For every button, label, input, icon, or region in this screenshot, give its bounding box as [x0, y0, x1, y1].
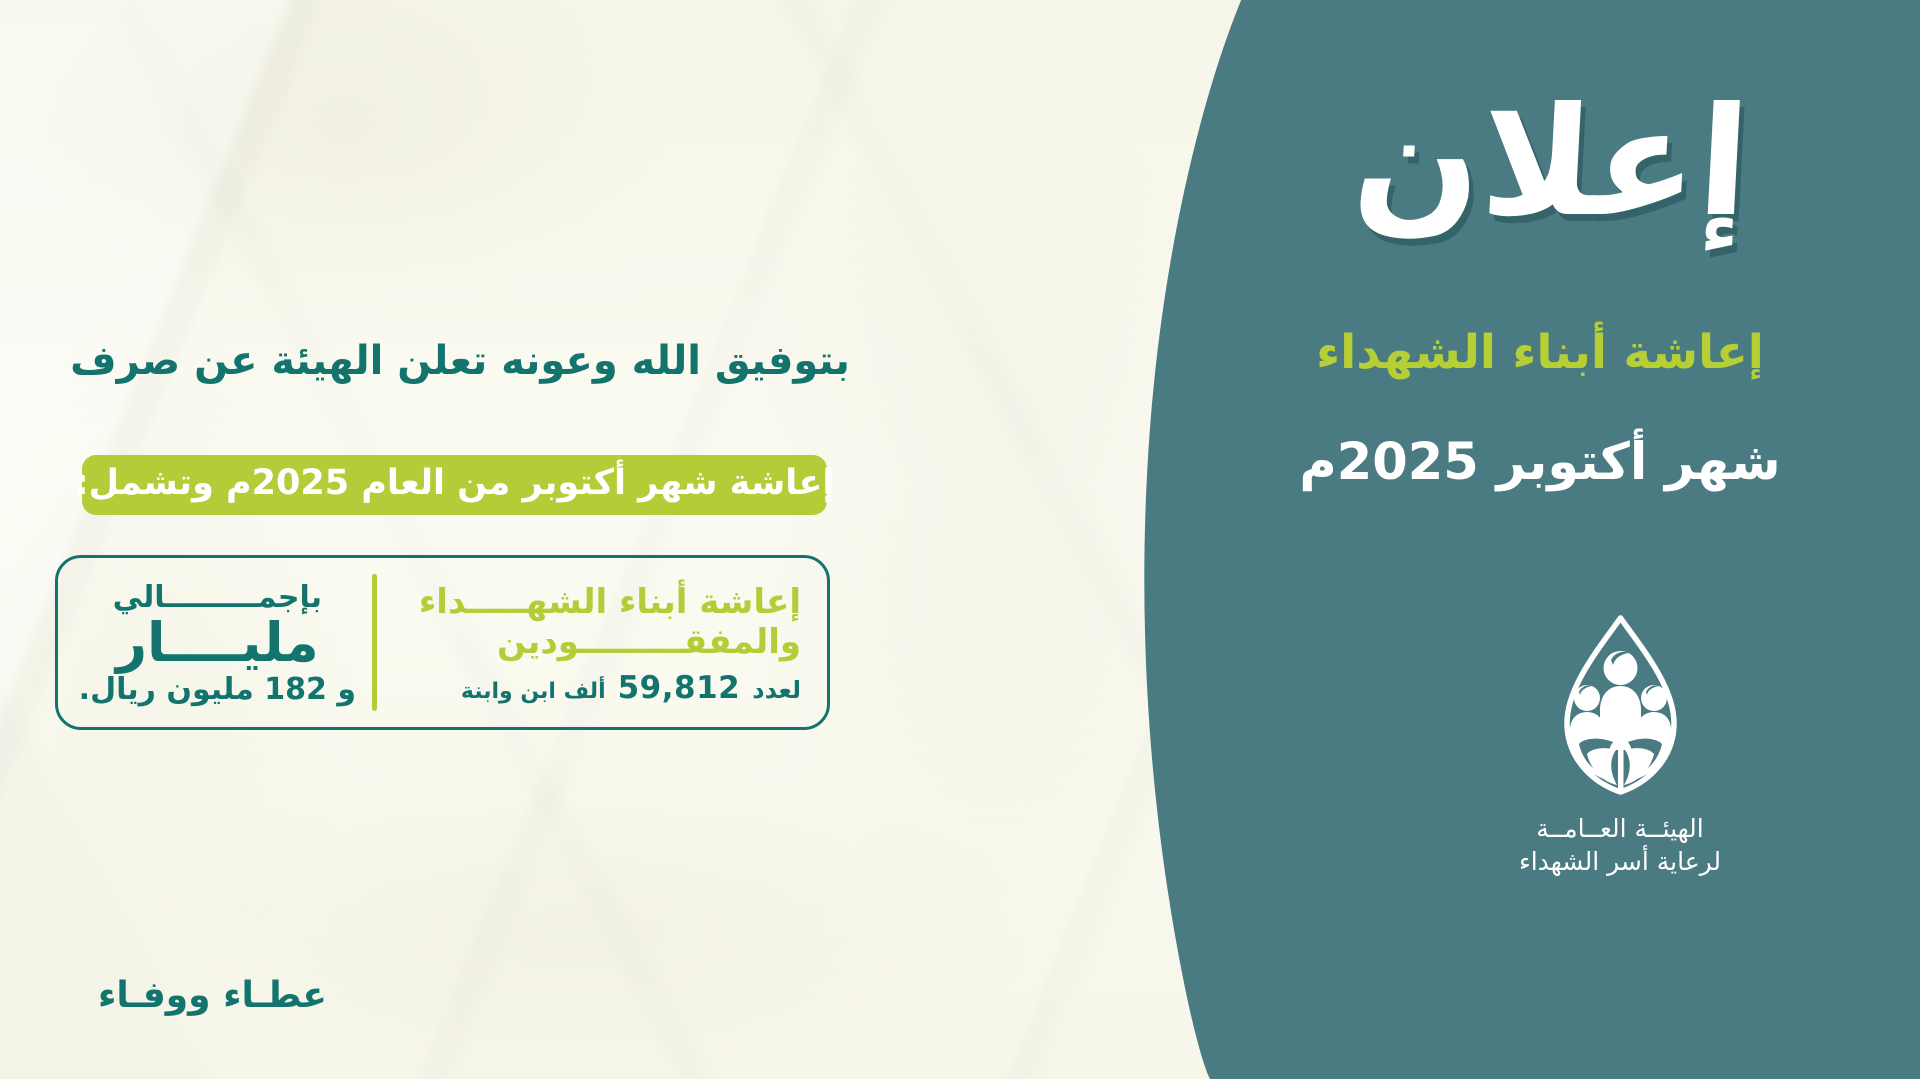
- right-panel-content: إعلان إعاشة أبناء الشهداء شهر أكتوبر 202…: [980, 0, 1920, 1079]
- total-label: بإجمـــــــــالي: [79, 580, 356, 615]
- authority-logo-family-arch-icon: [1533, 610, 1708, 800]
- count-value: 59,812: [618, 670, 741, 706]
- organization-logo: الهيئــة العــامــة لرعاية أسر الشهداء: [1455, 610, 1785, 876]
- beneficiaries-line2: والمفقـــــــــودين: [391, 623, 801, 661]
- green-banner: إعاشة شهر أكتوبر من العام 2025م وتشمل:: [82, 455, 827, 515]
- beneficiaries-count-row: لعدد 59,812 ألف ابن وابنة: [391, 670, 801, 706]
- total-billion: مليــــار: [79, 615, 356, 671]
- total-million: و 182 مليون ريال.: [79, 672, 356, 707]
- left-panel-content: بتوفيق الله وعونه تعلن الهيئة عن صرف إعا…: [0, 0, 960, 1079]
- headline-eelan: إعلان: [1245, 88, 1855, 288]
- count-label: لعدد: [752, 676, 801, 704]
- logo-text-line2: لرعاية أسر الشهداء: [1455, 847, 1785, 876]
- right-panel-subtitle-green: إعاشة أبناء الشهداء: [1230, 325, 1850, 380]
- box-divider: [372, 574, 377, 711]
- lead-statement: بتوفيق الله وعونه تعلن الهيئة عن صرف: [20, 338, 900, 384]
- beneficiaries-column: إعاشة أبناء الشهـــــداء والمفقـــــــــ…: [377, 558, 827, 727]
- green-banner-text: إعاشة شهر أكتوبر من العام 2025م وتشمل:: [75, 466, 835, 504]
- total-amount-column: بإجمـــــــــالي مليــــار و 182 مليون ر…: [55, 558, 372, 727]
- beneficiaries-line1: إعاشة أبناء الشهـــــداء: [391, 583, 801, 621]
- details-box: إعاشة أبناء الشهـــــداء والمفقـــــــــ…: [55, 555, 830, 730]
- right-panel-subtitle-white: شهر أكتوبر 2025م: [1230, 433, 1850, 492]
- logo-text-line1: الهيئــة العــامــة: [1455, 814, 1785, 843]
- tagline: عطـاء ووفـاء: [98, 975, 327, 1016]
- count-unit: ألف ابن وابنة: [461, 679, 606, 704]
- announcement-poster: إعلان إعاشة أبناء الشهداء شهر أكتوبر 202…: [0, 0, 1920, 1079]
